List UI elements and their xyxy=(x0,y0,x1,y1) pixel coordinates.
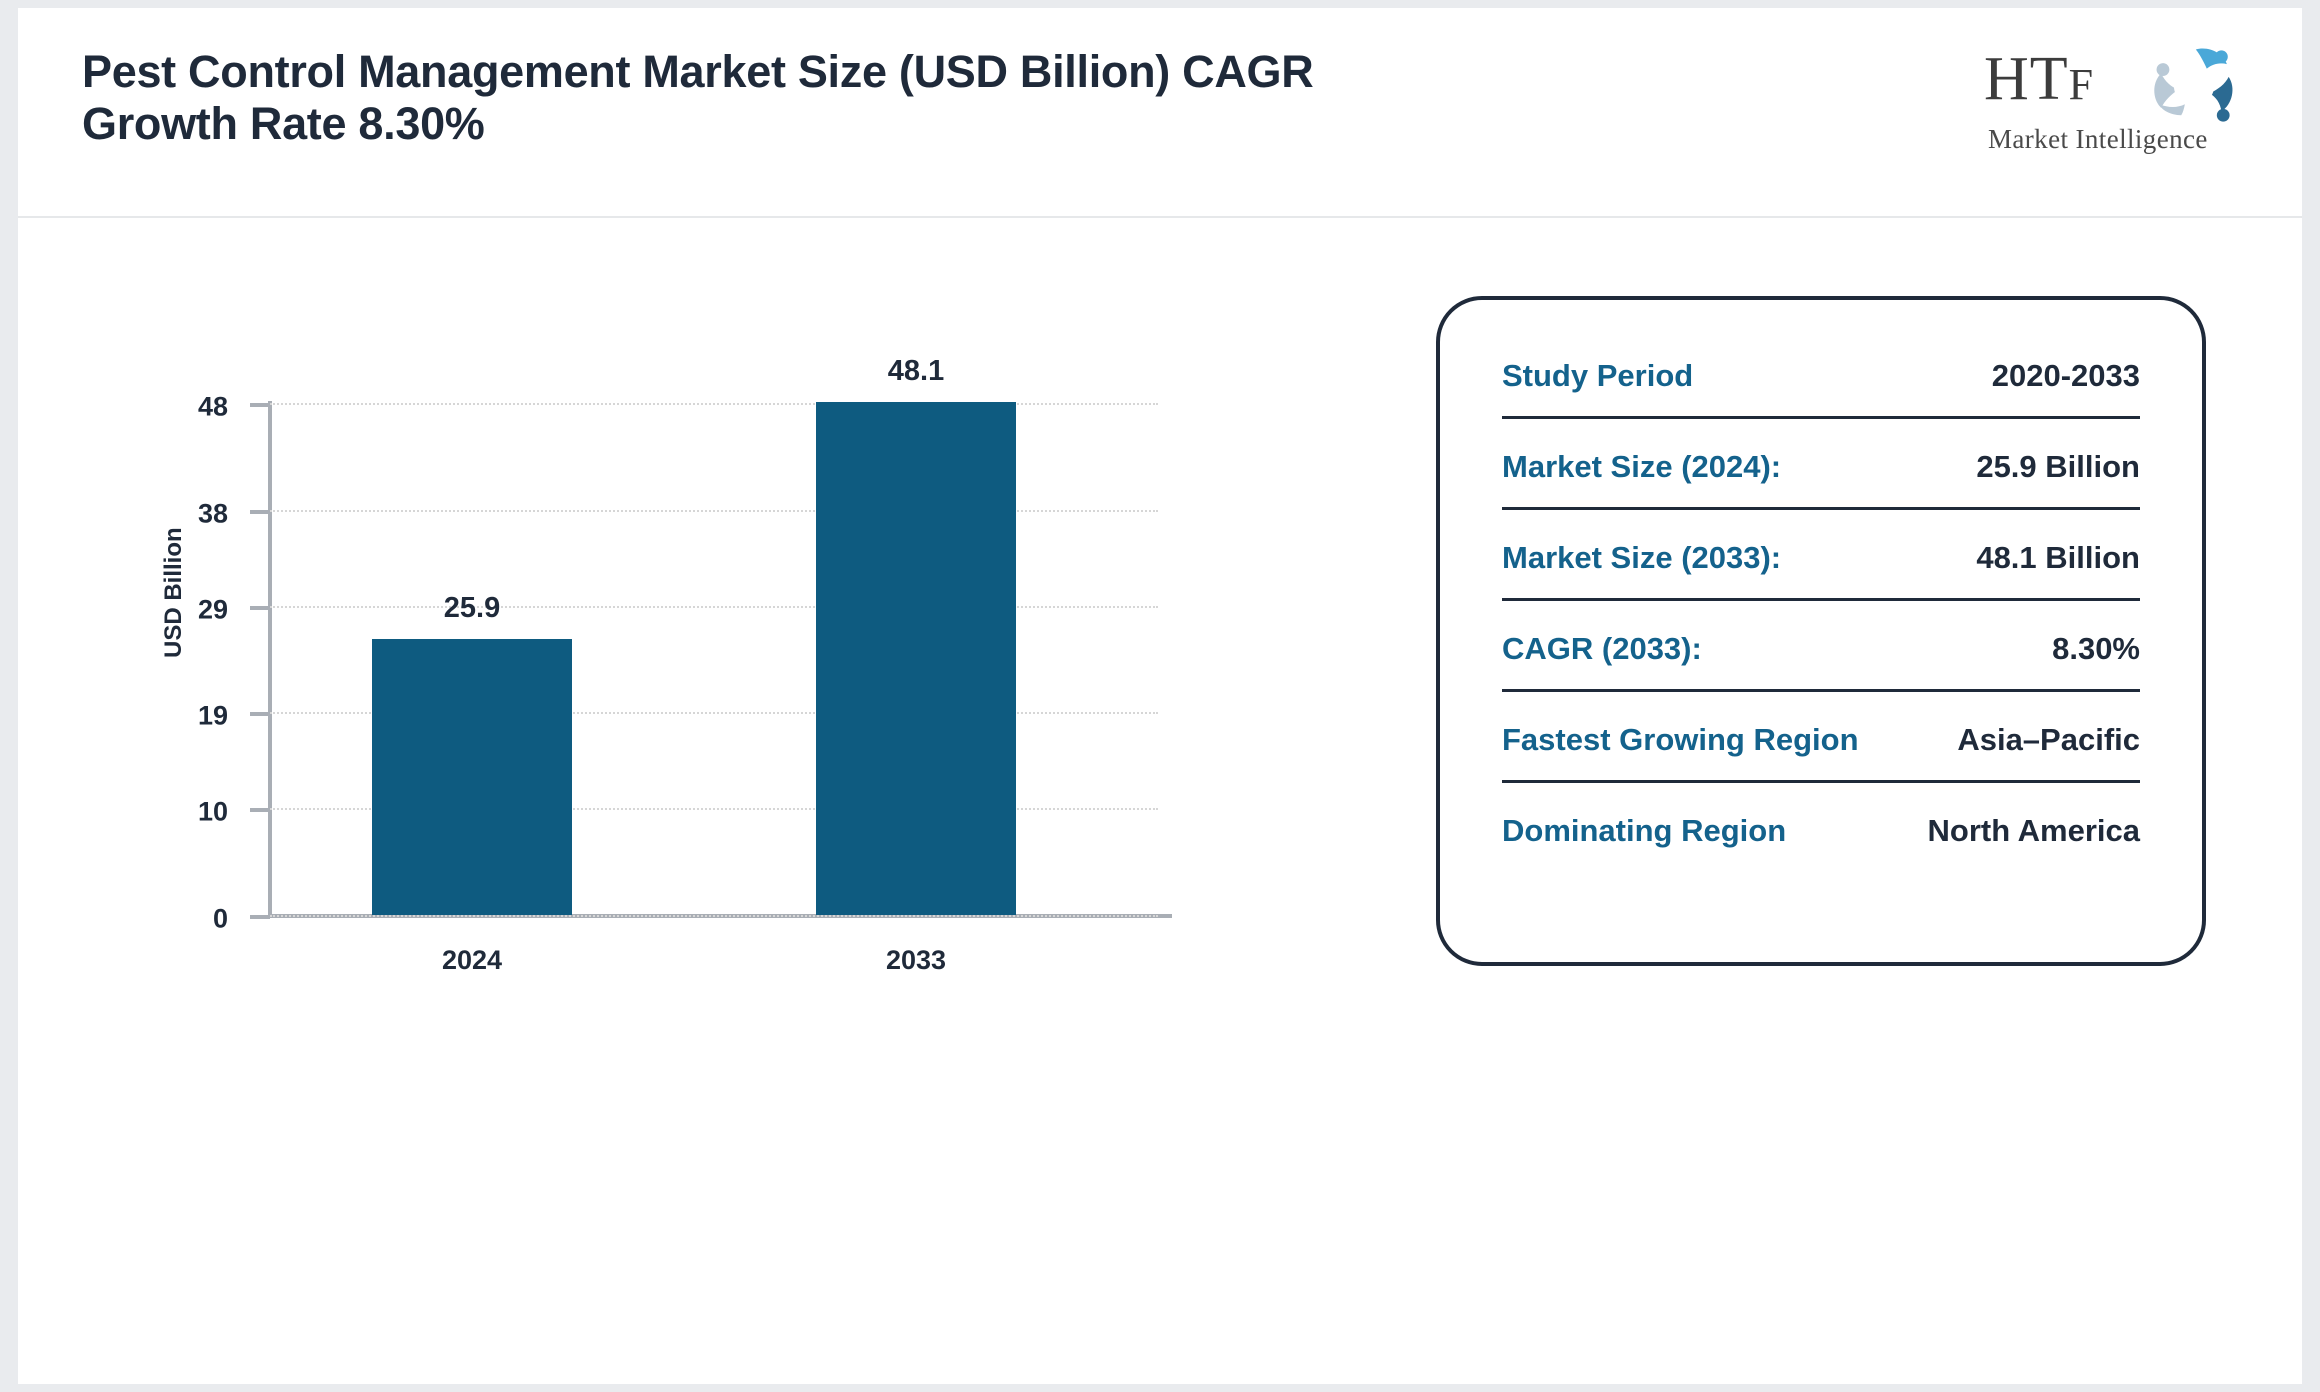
y-tick-label: 0 xyxy=(213,904,228,935)
y-tick-mark: 10 xyxy=(250,808,270,812)
summary-row-value: 8.30% xyxy=(2052,631,2140,667)
logo-letters-accent: F xyxy=(2069,60,2094,109)
page-title: Pest Control Management Market Size (USD… xyxy=(82,46,1382,150)
y-axis-line xyxy=(268,401,272,917)
y-tick-label: 19 xyxy=(198,701,228,732)
summary-row: Dominating RegionNorth America xyxy=(1502,813,2140,871)
logo-wordmark: HTF xyxy=(1984,48,2094,110)
y-tick-mark: 38 xyxy=(250,510,270,514)
summary-row-label: Dominating Region xyxy=(1502,813,1786,849)
summary-row-value: 2020-2033 xyxy=(1992,358,2140,394)
people-swirl-icon xyxy=(2148,44,2240,128)
gridline xyxy=(270,915,1158,917)
summary-row-label: CAGR (2033): xyxy=(1502,631,1702,667)
summary-row-label: Study Period xyxy=(1502,358,1693,394)
y-tick-label: 48 xyxy=(198,392,228,423)
bar[interactable]: 25.92024 xyxy=(372,639,572,915)
y-tick-label: 29 xyxy=(198,594,228,625)
summary-row: Fastest Growing RegionAsia–Pacific xyxy=(1502,722,2140,783)
y-axis-label: USD Billion xyxy=(160,527,188,658)
gridline xyxy=(270,510,1158,512)
summary-row: Market Size (2033):48.1 Billion xyxy=(1502,540,2140,601)
summary-row-value: North America xyxy=(1928,813,2140,849)
bar[interactable]: 48.12033 xyxy=(816,402,1016,915)
plot-area: 01019293848 25.9202448.12033 xyxy=(270,403,1158,915)
brand-logo: HTF Market Intelligence xyxy=(1976,42,2246,162)
y-tick-mark: 0 xyxy=(250,915,270,919)
summary-row-value: 25.9 Billion xyxy=(1976,449,2140,485)
gridline xyxy=(270,403,1158,405)
summary-row: CAGR (2033):8.30% xyxy=(1502,631,2140,692)
x-tick-label: 2033 xyxy=(886,945,946,976)
summary-row-label: Fastest Growing Region xyxy=(1502,722,1859,758)
logo-letters-main: HT xyxy=(1984,45,2069,113)
summary-row-value: Asia–Pacific xyxy=(1957,722,2140,758)
bar-value-label: 25.9 xyxy=(444,592,500,625)
summary-row-label: Market Size (2033): xyxy=(1502,540,1781,576)
summary-row: Study Period2020-2033 xyxy=(1502,358,2140,419)
y-tick-mark: 19 xyxy=(250,712,270,716)
bar-chart: USD Billion 01019293848 25.9202448.12033 xyxy=(18,218,1418,1378)
summary-row-value: 48.1 Billion xyxy=(1976,540,2140,576)
logo-tagline: Market Intelligence xyxy=(1988,124,2208,155)
chart-page: Pest Control Management Market Size (USD… xyxy=(18,8,2302,1384)
summary-row: Market Size (2024):25.9 Billion xyxy=(1502,449,2140,510)
bar-value-label: 48.1 xyxy=(888,355,944,388)
gridline xyxy=(270,606,1158,608)
y-tick-mark: 29 xyxy=(250,606,270,610)
summary-card-rows: Study Period2020-2033Market Size (2024):… xyxy=(1502,358,2140,871)
summary-row-label: Market Size (2024): xyxy=(1502,449,1781,485)
summary-card: Study Period2020-2033Market Size (2024):… xyxy=(1436,296,2206,966)
y-tick-mark: 48 xyxy=(250,403,270,407)
y-tick-label: 10 xyxy=(198,797,228,828)
page-header: Pest Control Management Market Size (USD… xyxy=(18,8,2302,218)
y-tick-label: 38 xyxy=(198,498,228,529)
x-tick-label: 2024 xyxy=(442,945,502,976)
